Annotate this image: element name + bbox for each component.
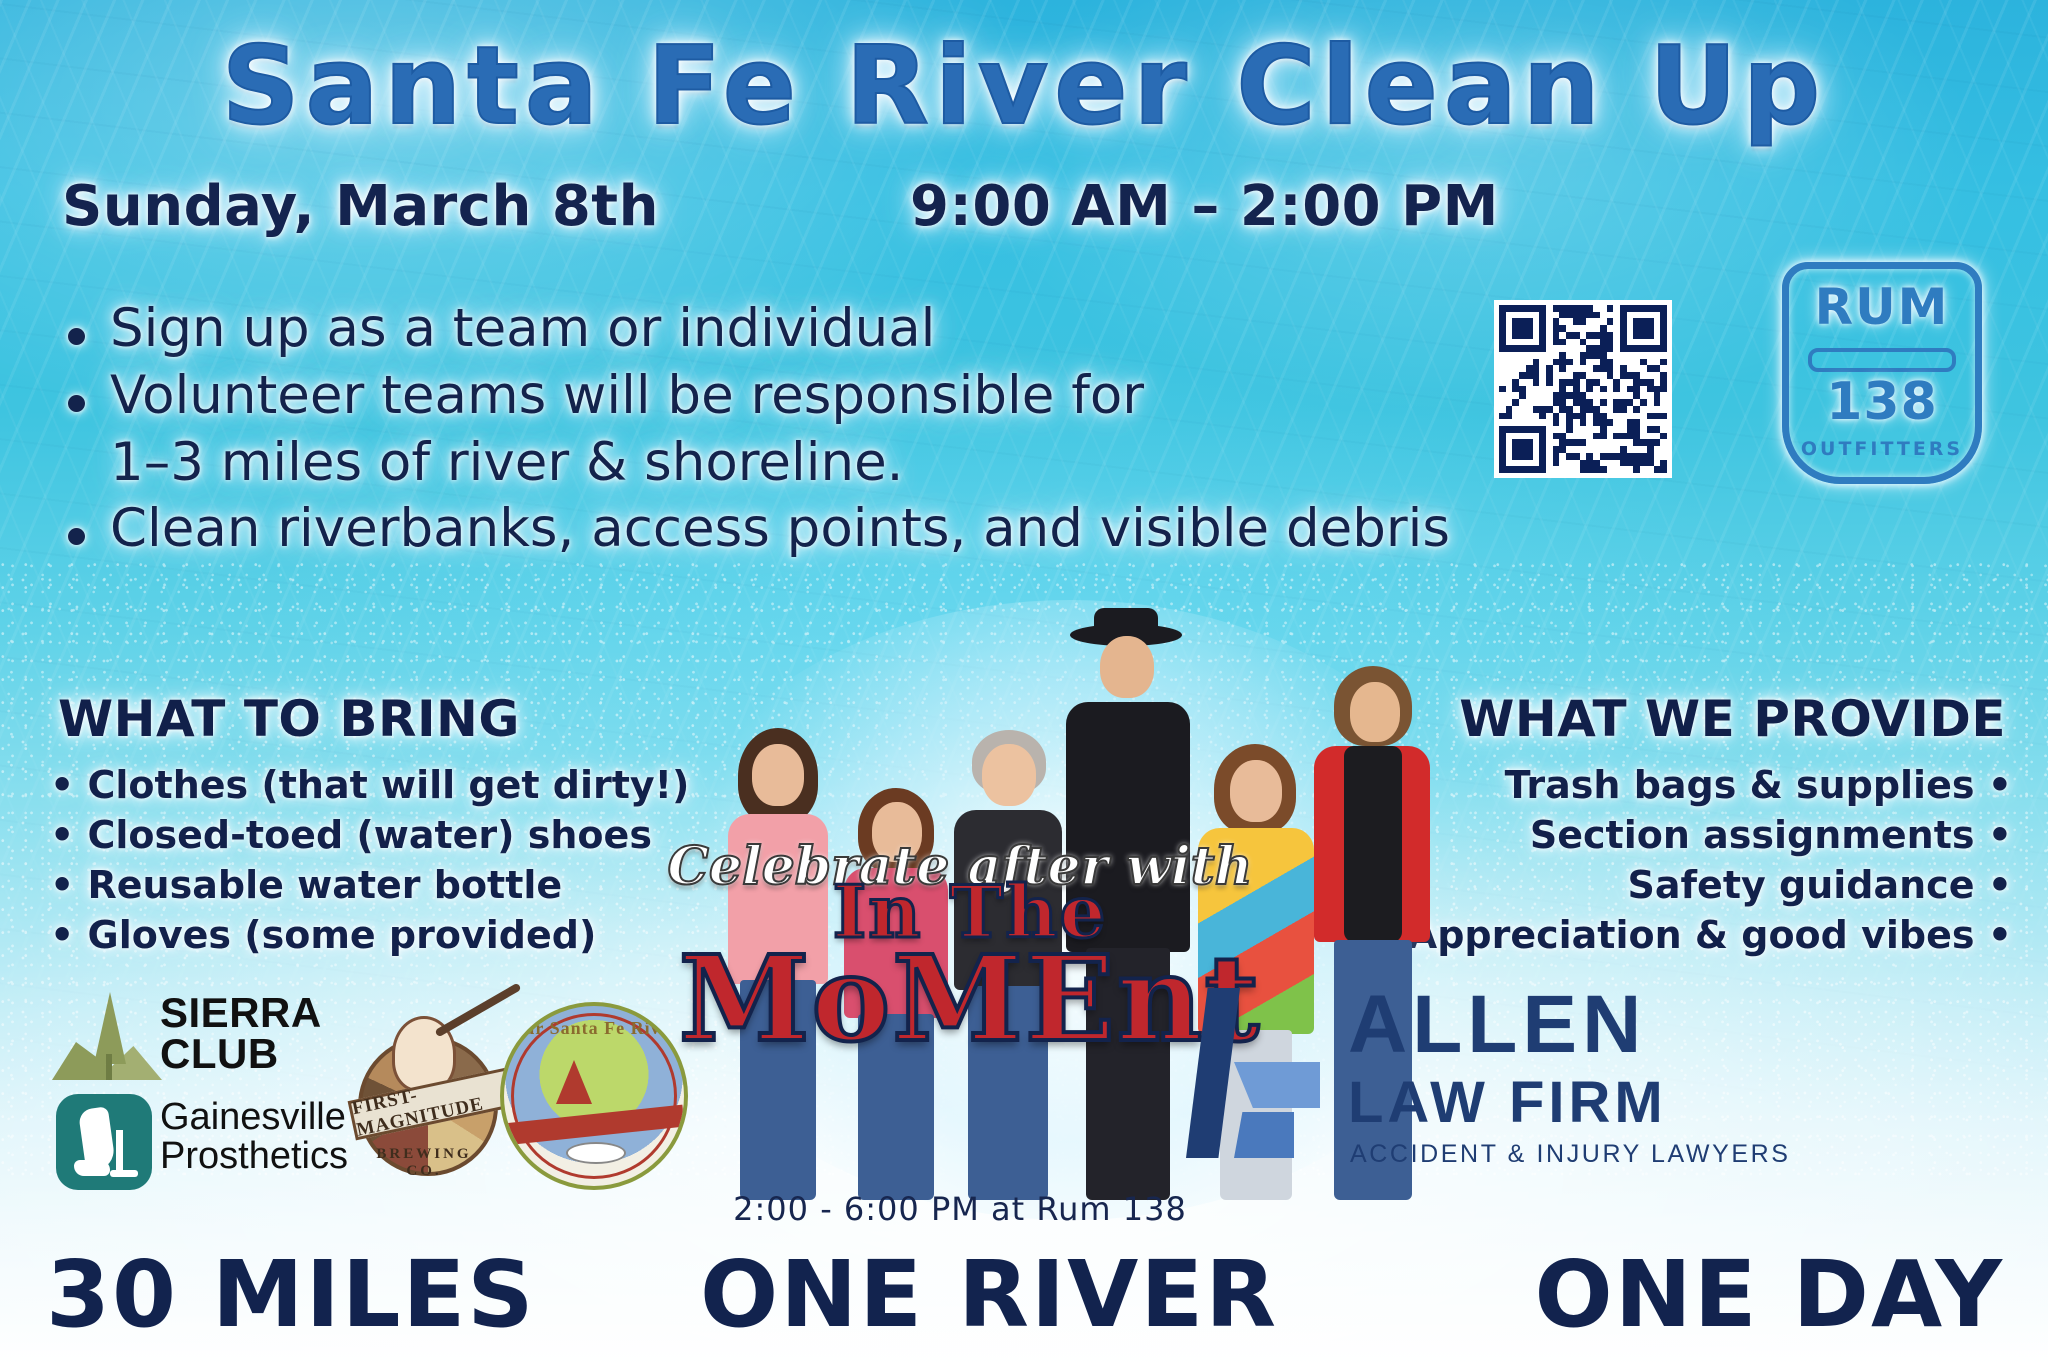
sierra-line-1: SIERRA	[160, 992, 322, 1033]
event-bullets: Sign up as a team or individual Voluntee…	[52, 300, 1482, 567]
list-item: • Closed-toed (water) shoes	[50, 810, 689, 860]
sierra-club-label: SIERRA CLUB	[160, 992, 322, 1074]
list-item: • Reusable water bottle	[50, 860, 689, 910]
first-magnitude-brewing-logo: FIRST-MAGNITUDE BREWING CO.	[352, 1010, 502, 1170]
what-to-bring-heading: WHAT TO BRING	[58, 690, 520, 748]
banner-one-day: ONE DAY	[1535, 1241, 2004, 1348]
our-santa-fe-river-logo: Our Santa Fe River	[500, 1002, 688, 1190]
list-item-continuation: 1–3 miles of river & shoreline.	[52, 434, 1482, 493]
list-item: • Clothes (that will get dirty!)	[50, 760, 689, 810]
banner-one-river: ONE RIVER	[700, 1241, 1278, 1348]
gp-line-1: Gainesville	[160, 1098, 348, 1137]
fm-brewing-text: BREWING CO.	[358, 1146, 490, 1180]
gp-line-2: Prosthetics	[160, 1137, 348, 1176]
allen-a-mark-icon	[1138, 988, 1328, 1158]
sierra-club-icon	[52, 988, 162, 1084]
sierra-line-2: CLUB	[160, 1033, 322, 1074]
rum-number: 138	[1782, 372, 1982, 432]
what-we-provide-heading: WHAT WE PROVIDE	[1459, 690, 2006, 748]
allen-tagline: ACCIDENT & INJURY LAWYERS	[1350, 1140, 1791, 1169]
list-item: Sign up as a team or individual	[52, 300, 1482, 359]
allen-subtitle: LAW FIRM	[1348, 1074, 1667, 1132]
list-item: Section assignments •	[1408, 810, 2012, 860]
page-title: Santa Fe River Clean Up	[0, 24, 2048, 149]
event-time: 9:00 AM – 2:00 PM	[910, 174, 1499, 239]
osfr-text: Our Santa Fe River	[504, 1018, 684, 1039]
event-date: Sunday, March 8th	[62, 174, 659, 239]
qr-code[interactable]	[1494, 300, 1672, 478]
gainesville-prosthetics-label: Gainesville Prosthetics	[160, 1098, 348, 1176]
list-item: Clean riverbanks, access points, and vis…	[52, 500, 1482, 559]
list-item: • Gloves (some provided)	[50, 910, 689, 960]
list-item: Volunteer teams will be responsible for	[52, 367, 1482, 426]
gainesville-prosthetics-icon	[56, 1094, 152, 1190]
page-title-text: Santa Fe River Clean Up	[222, 24, 1827, 149]
allen-law-firm-logo: ALLEN LAW FIRM ACCIDENT & INJURY LAWYERS	[1138, 988, 2018, 1178]
afterparty-time: 2:00 - 6:00 PM at Rum 138	[640, 1190, 1280, 1228]
rum-subtitle: OUTFITTERS	[1782, 438, 1982, 460]
list-item: Appreciation & good vibes •	[1408, 910, 2012, 960]
list-item: Safety guidance •	[1408, 860, 2012, 910]
what-we-provide-list: Trash bags & supplies • Section assignme…	[1408, 760, 2012, 961]
list-item: Trash bags & supplies •	[1408, 760, 2012, 810]
rum-138-logo: RUM 138 OUTFITTERS	[1782, 262, 1982, 484]
rum-wordmark: RUM	[1782, 278, 1982, 336]
poster-canvas: Santa Fe River Clean Up Sunday, March 8t…	[0, 0, 2048, 1365]
paddle-icon	[1808, 348, 1956, 372]
what-to-bring-list: • Clothes (that will get dirty!) • Close…	[50, 760, 689, 961]
date-time-bar: Sunday, March 8th 9:00 AM – 2:00 PM	[0, 174, 2048, 234]
banner-miles: 30 MILES	[46, 1241, 536, 1348]
bottom-banner: 30 MILES ONE RIVER ONE DAY	[0, 1241, 2048, 1351]
allen-name: ALLEN	[1348, 984, 1646, 1066]
